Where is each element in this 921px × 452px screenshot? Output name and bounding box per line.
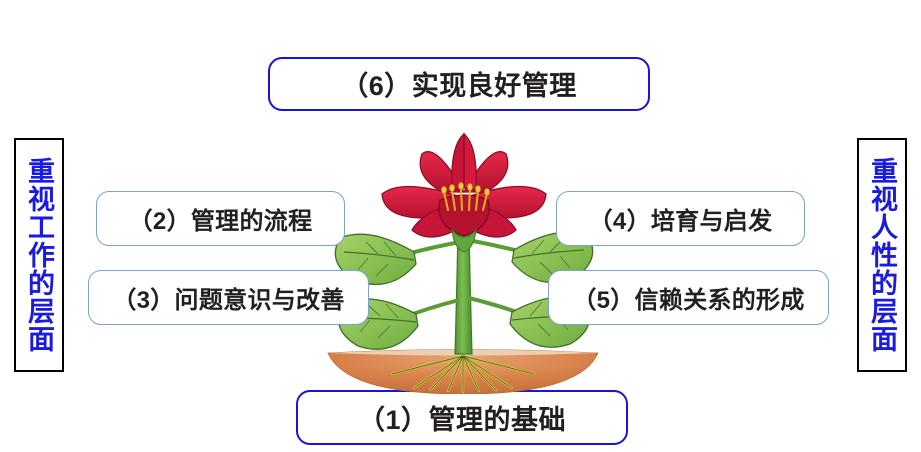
node-box-2: （2）管理的流程 [96,191,345,246]
right-pillar-label: 重视人性的层面 [868,157,896,353]
node-box-5: （5）信赖关系的形成 [548,270,829,325]
node-box-1: （1）管理的基础 [296,390,628,445]
node-box-4-label: （4）培育与启发 [589,201,773,236]
flowering-plant-illustration [318,132,608,394]
left-pillar-box: 重视工作的层面 [14,138,64,372]
node-box-5-label: （5）信赖关系的形成 [572,280,804,315]
node-box-4: （4）培育与启发 [556,191,805,246]
left-pillar-label: 重视工作的层面 [25,157,53,353]
node-box-2-label: （2）管理的流程 [129,201,313,236]
node-box-1-label: （1）管理的基础 [358,392,566,437]
flower-bloom [382,134,546,237]
right-pillar-box: 重视人性的层面 [857,138,907,372]
node-box-3: （3）问题意识与改善 [88,270,369,325]
node-box-3-label: （3）问题意识与改善 [112,280,344,315]
node-box-6: （6）实现良好管理 [268,57,650,111]
node-box-6-label: （6）实现良好管理 [341,59,577,103]
diagram-canvas: 重视工作的层面 重视人性的层面 （6）实现良好管理 （1）管理的基础 （2）管理… [0,0,921,452]
